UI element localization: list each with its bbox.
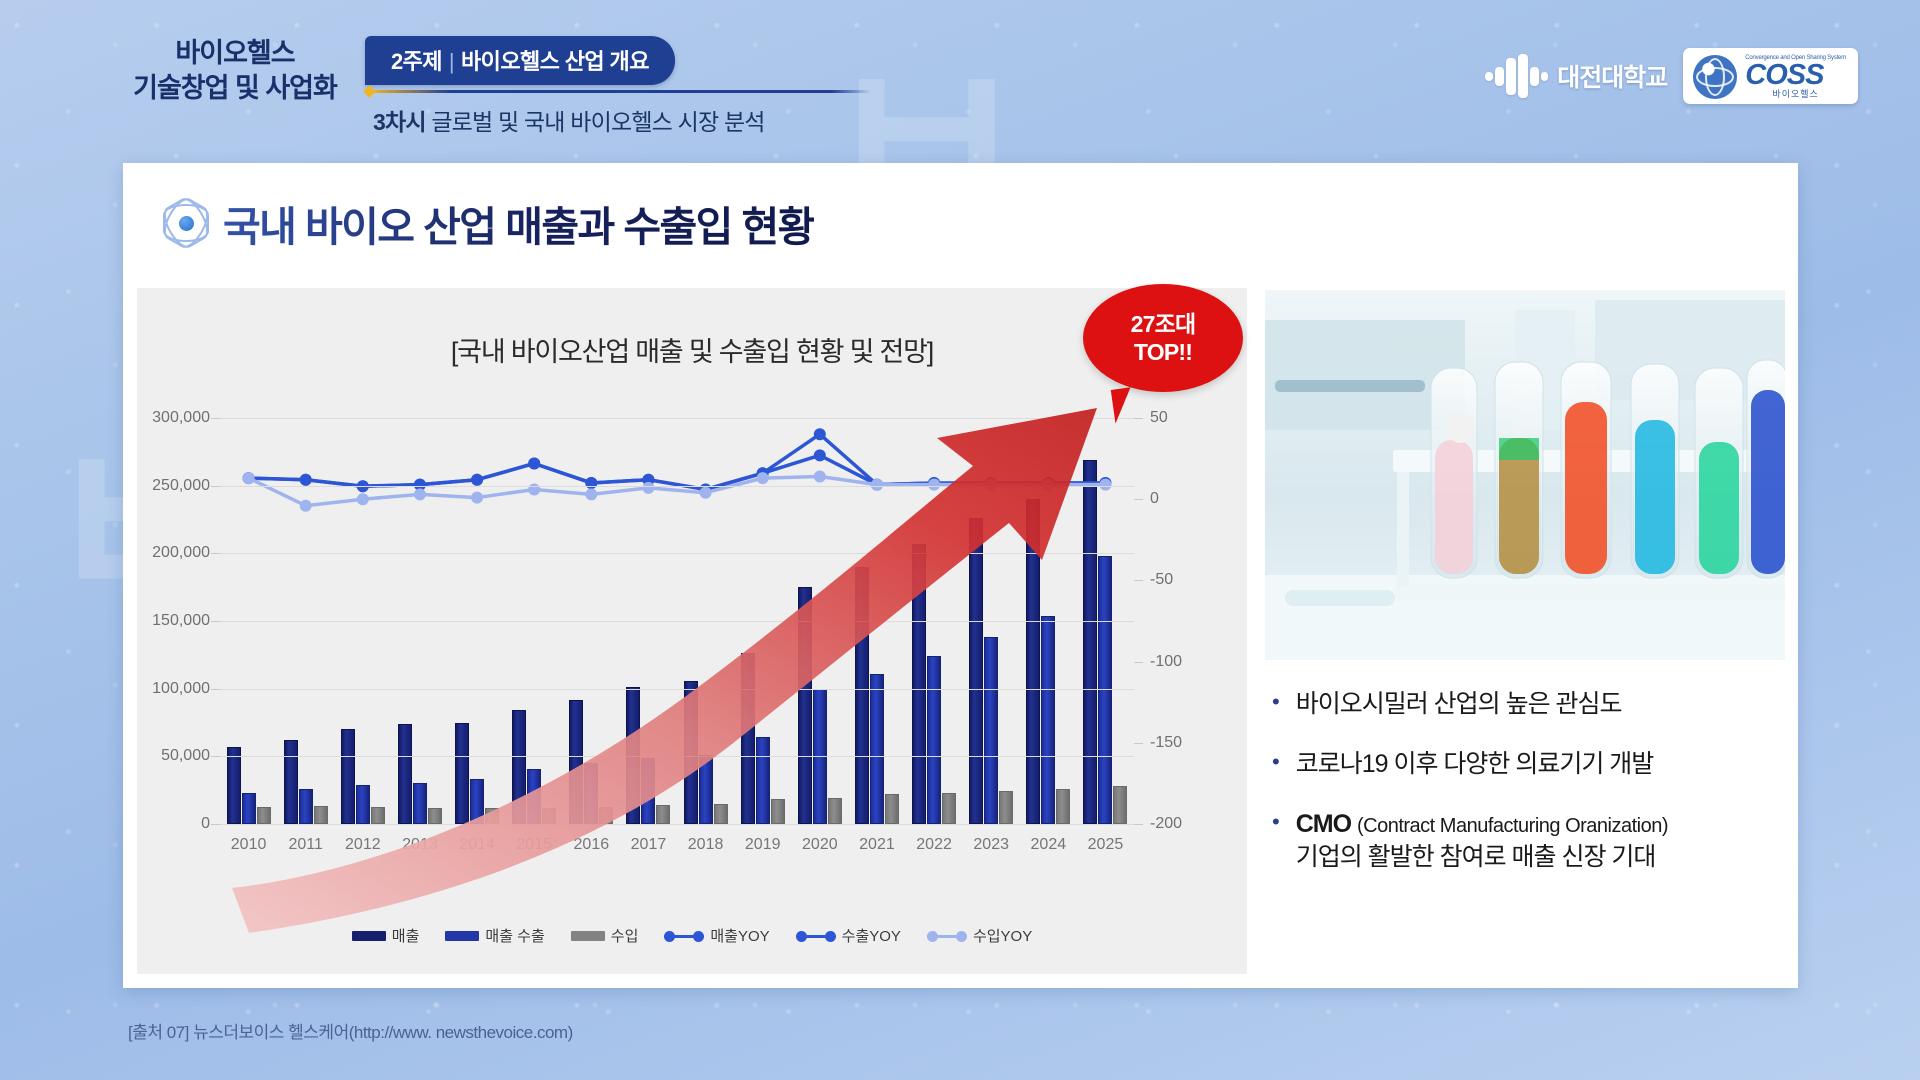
chart-line (249, 476, 1106, 505)
y-axis-tick-label: 200,000 (152, 544, 210, 562)
chart-gridline (220, 418, 1134, 419)
chart-data-point (757, 472, 769, 484)
y-axis-tick (211, 621, 220, 622)
bullet-term: CMO (1296, 810, 1351, 838)
legend-swatch (445, 931, 479, 941)
y2-axis-tick (1134, 743, 1143, 744)
callout-bubble: 27조대 TOP!! (1083, 284, 1243, 392)
x-axis-tick-label: 2018 (688, 836, 724, 854)
bullet-term-expansion: (Contract Manufacturing Oranization) (1357, 815, 1668, 837)
session-subtitle: 3차시 글로벌 및 국내 바이오헬스 시장 분석 (373, 103, 871, 137)
bullet-tail: 기업의 활발한 참여로 매출 신장 기대 (1296, 843, 1656, 871)
badge-underline (371, 90, 871, 93)
x-axis-tick-label: 2023 (973, 836, 1009, 854)
bullet-item: •코로나19 이후 다양한 의료기기 개발 (1272, 748, 1792, 781)
chart-gridline (220, 553, 1134, 554)
chart-data-point (300, 500, 312, 512)
y-axis-tick-label: 300,000 (152, 409, 210, 427)
lab-photo (1265, 290, 1785, 660)
y-axis-tick-label: 0 (201, 815, 210, 833)
legend-label: 매출YOY (710, 925, 769, 946)
legend-label: 매출 수출 (485, 925, 544, 946)
bullet-dot: • (1272, 688, 1280, 721)
topic-badge: 2주제|바이오헬스 산업 개요 (365, 36, 675, 85)
legend-line-swatch (664, 929, 704, 943)
university-name: 대전대학교 (1557, 58, 1667, 94)
legend-item[interactable]: 매출 (352, 925, 420, 946)
bio-industry-chart: 2010201120122013201420152016201720182019… (137, 288, 1247, 974)
chart-gridline (220, 621, 1134, 622)
bullet-item: •바이오시밀러 산업의 높은 관심도 (1272, 688, 1792, 721)
y2-axis-tick-label: -50 (1150, 571, 1173, 589)
x-axis-tick-label: 2016 (574, 836, 610, 854)
chart-data-point (1099, 479, 1111, 491)
chart-data-point (814, 470, 826, 482)
university-mark-icon (1485, 54, 1547, 98)
chart-data-point (871, 479, 883, 491)
source-citation: [출처 07] 뉴스더보이스 헬스케어(http://www. newsthev… (128, 1018, 573, 1043)
callout-line1: 27조대 (1131, 310, 1196, 338)
y2-axis-tick-label: 50 (1150, 409, 1168, 427)
chart-data-point (814, 428, 826, 440)
legend-item[interactable]: 수출YOY (796, 925, 901, 946)
callout-line2: TOP!! (1134, 338, 1192, 366)
x-axis-tick-label: 2017 (631, 836, 667, 854)
chart-gridline (220, 486, 1134, 487)
topic-header: 2주제|바이오헬스 산업 개요 3차시 글로벌 및 국내 바이오헬스 시장 분석 (365, 36, 871, 137)
bullet-text: 코로나19 이후 다양한 의료기기 개발 (1296, 748, 1654, 781)
y2-axis-tick (1134, 499, 1143, 500)
x-axis-tick-label: 2024 (1031, 836, 1067, 854)
bullet-dot: • (1272, 808, 1280, 874)
chart-legend: 매출매출 수출수입 매출YOY 수출YOY 수입YOY (137, 925, 1247, 946)
chart-data-point (642, 482, 654, 494)
chart-data-point (357, 493, 369, 505)
chart-gridline (220, 756, 1134, 757)
y2-axis-tick-label: -100 (1150, 653, 1182, 671)
bullet-text: 바이오시밀러 산업의 높은 관심도 (1296, 688, 1622, 721)
x-axis-tick-label: 2025 (1088, 836, 1124, 854)
bullet-dot: • (1272, 748, 1280, 781)
legend-line-swatch (927, 929, 967, 943)
topic-badge-number: 2주제 (391, 49, 442, 74)
y-axis-tick-label: 50,000 (161, 747, 210, 765)
y-axis-tick (211, 824, 220, 825)
legend-label: 수출YOY (842, 925, 901, 946)
chart-data-point (814, 449, 826, 461)
x-axis-tick-label: 2013 (402, 836, 438, 854)
chart-data-point (585, 477, 597, 489)
x-axis-tick-label: 2012 (345, 836, 381, 854)
atom-icon (163, 200, 209, 246)
coss-globe-icon (1693, 55, 1737, 99)
legend-label: 수입YOY (973, 925, 1032, 946)
course-title: 바이오헬스 기술창업 및 사업화 (105, 36, 365, 105)
chart-panel: [국내 바이오산업 매출 및 수출입 현황 및 전망] 201020112012… (137, 288, 1247, 974)
y2-axis-tick (1134, 824, 1143, 825)
legend-label: 수입 (611, 925, 639, 946)
coss-subtitle: 바이오헬스 (1745, 90, 1846, 99)
coss-logo: Convergence and Open Sharing System COSS… (1683, 48, 1858, 104)
x-axis-tick-label: 2011 (288, 836, 322, 854)
chart-data-point (243, 472, 255, 484)
y-axis-tick-label: 100,000 (152, 680, 210, 698)
x-axis-tick-label: 2020 (802, 836, 838, 854)
y2-axis-tick (1134, 662, 1143, 663)
y-axis-tick (211, 553, 220, 554)
chart-data-point (471, 474, 483, 486)
y2-axis-tick-label: 0 (1150, 490, 1159, 508)
course-title-line2: 기술창업 및 사업화 (105, 71, 365, 106)
bullet-text: CMO (Contract Manufacturing Oranization)… (1296, 808, 1668, 874)
topic-badge-separator: | (449, 49, 454, 74)
chart-gridline (220, 689, 1134, 690)
x-axis-tick-label: 2019 (745, 836, 781, 854)
brand-logos: 대전대학교 Convergence and Open Sharing Syste… (1485, 48, 1858, 104)
legend-item[interactable]: 수입YOY (927, 925, 1032, 946)
legend-item[interactable]: 매출 수출 (445, 925, 544, 946)
chart-data-point (1042, 479, 1054, 491)
chart-line (249, 434, 1106, 489)
coss-wordmark: COSS (1745, 61, 1846, 90)
session-number: 3차시 (373, 109, 426, 135)
legend-item[interactable]: 매출YOY (664, 925, 769, 946)
chart-data-point (985, 479, 997, 491)
x-axis-tick-label: 2021 (859, 836, 895, 854)
y-axis-tick-label: 150,000 (152, 612, 210, 630)
session-text: 글로벌 및 국내 바이오헬스 시장 분석 (431, 109, 764, 135)
chart-plot-area: 2010201120122013201420152016201720182019… (220, 418, 1134, 824)
chart-data-point (414, 488, 426, 500)
y-axis-tick-label: 250,000 (152, 477, 210, 495)
x-axis-tick-label: 2010 (231, 836, 267, 854)
y-axis-tick (211, 689, 220, 690)
y2-axis-tick-label: -200 (1150, 815, 1182, 833)
legend-line-swatch (796, 929, 836, 943)
legend-swatch (352, 931, 386, 941)
topic-badge-text: 바이오헬스 산업 개요 (461, 49, 649, 74)
chart-gridline (220, 824, 1134, 825)
y2-axis-tick-label: -150 (1150, 734, 1182, 752)
chart-data-point (471, 492, 483, 504)
x-axis-tick-label: 2015 (516, 836, 552, 854)
page-title: 국내 바이오 산업 매출과 수출입 현황 (223, 193, 814, 253)
insight-bullets: •바이오시밀러 산업의 높은 관심도•코로나19 이후 다양한 의료기기 개발•… (1272, 688, 1792, 901)
bullet-item: •CMO (Contract Manufacturing Oranization… (1272, 808, 1792, 874)
y-axis-tick (211, 756, 220, 757)
y-axis-tick (211, 418, 220, 419)
y-axis-tick (211, 486, 220, 487)
x-axis-tick-label: 2014 (459, 836, 495, 854)
chart-data-point (528, 457, 540, 469)
card-heading: 국내 바이오 산업 매출과 수출입 현황 (163, 193, 1798, 253)
chart-data-point (300, 474, 312, 486)
legend-label: 매출 (392, 925, 420, 946)
chart-data-point (585, 488, 597, 500)
legend-item[interactable]: 수입 (571, 925, 639, 946)
chart-data-point (700, 487, 712, 499)
y2-axis-tick (1134, 580, 1143, 581)
university-logo: 대전대학교 (1485, 54, 1667, 98)
chart-data-point (928, 479, 940, 491)
course-title-line1: 바이오헬스 (105, 36, 365, 71)
x-axis-tick-label: 2022 (916, 836, 952, 854)
legend-swatch (571, 931, 605, 941)
